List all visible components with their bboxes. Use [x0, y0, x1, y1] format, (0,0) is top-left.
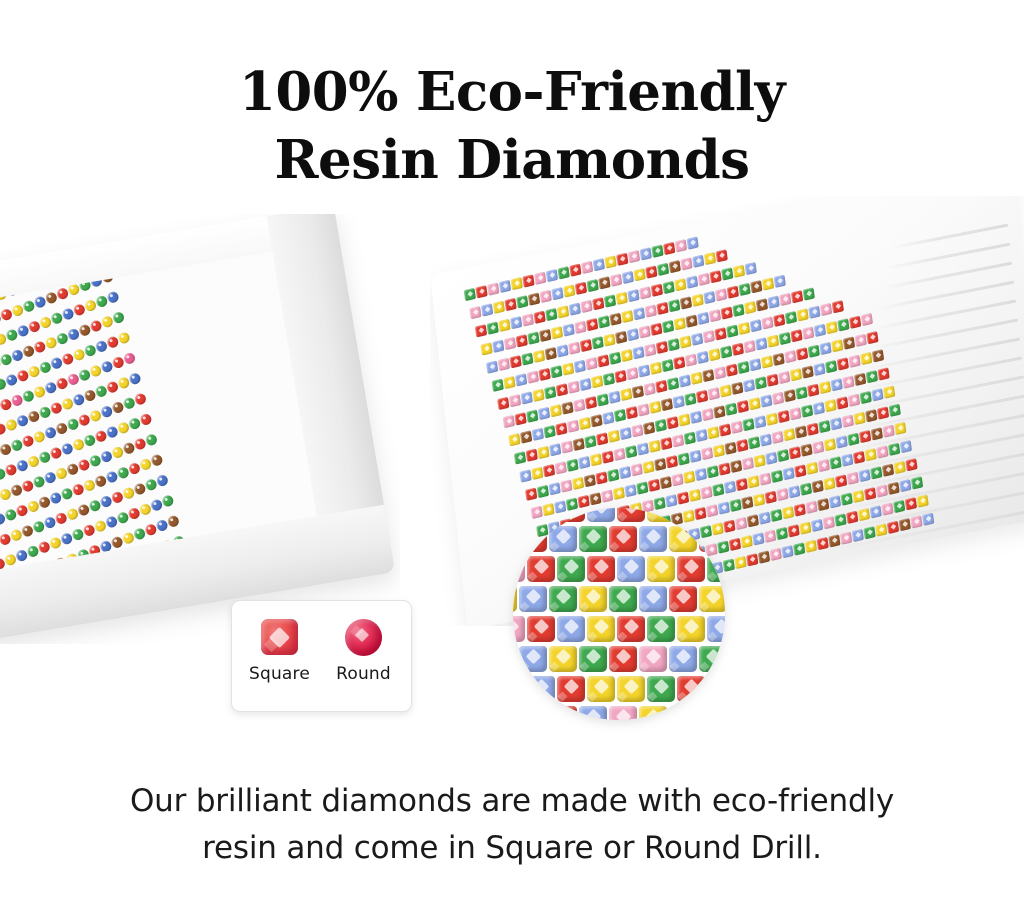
square-drill-bead — [793, 542, 805, 555]
square-drill-bead — [750, 280, 762, 293]
square-drill-bead — [732, 304, 744, 317]
square-drill-bead — [679, 374, 691, 387]
square-drill-bead — [511, 277, 523, 290]
square-drill-bead — [619, 466, 631, 479]
square-drill-bead — [574, 321, 586, 334]
square-drill-bead — [770, 548, 782, 561]
square-drill-bead — [557, 305, 569, 318]
square-drill-bead — [573, 438, 585, 451]
magnified-square-gem — [699, 706, 725, 720]
magnified-square-gem — [549, 706, 577, 720]
square-drill-bead — [818, 459, 830, 472]
square-drill-bead — [765, 491, 777, 504]
square-drill-bead — [697, 312, 709, 325]
square-drill-bead — [730, 460, 742, 473]
square-drill-bead — [860, 391, 872, 404]
square-drill-bead — [817, 537, 829, 550]
square-drill-bead — [520, 430, 532, 443]
square-drill-bead — [486, 360, 498, 373]
square-drill-bead — [855, 334, 867, 347]
square-drill-bead — [503, 415, 515, 428]
square-drill-bead — [593, 258, 605, 271]
round-drill-bead — [166, 514, 180, 528]
square-drill-bead — [795, 386, 807, 399]
square-drill-bead — [527, 331, 539, 344]
square-drill-bead — [796, 347, 808, 360]
square-drill-bead — [712, 483, 724, 496]
square-drill-bead — [779, 293, 791, 306]
magnified-square-gem — [587, 616, 615, 642]
magnified-gem-row — [513, 676, 725, 705]
square-drill-bead — [579, 417, 591, 430]
square-drill-bead — [776, 527, 788, 540]
square-drill-bead — [847, 472, 859, 485]
square-drill-bead — [842, 414, 854, 427]
square-drill-bead — [829, 495, 841, 508]
square-drill-bead — [723, 520, 735, 533]
magnified-square-gem — [707, 508, 725, 522]
square-drill-bead — [464, 288, 476, 301]
magnified-square-gem — [527, 556, 555, 582]
square-drill-bead — [522, 313, 534, 326]
square-drill-bead — [738, 283, 750, 296]
magnified-gem-row — [513, 646, 725, 675]
square-drill-bead — [567, 420, 579, 433]
magnified-square-gem — [587, 556, 615, 582]
magnified-square-gem — [647, 508, 675, 522]
square-drill-bead — [824, 438, 836, 451]
square-drill-bead — [709, 309, 721, 322]
square-drill-bead — [829, 456, 841, 469]
square-drill-bead — [777, 449, 789, 462]
square-drill-bead — [849, 316, 861, 329]
square-drill-bead — [746, 553, 758, 566]
square-drill-bead — [823, 516, 835, 529]
magnified-square-gem — [617, 508, 645, 522]
square-drill-bead — [883, 385, 895, 398]
square-drill-bead — [848, 355, 860, 368]
legend-items: Square Round — [232, 601, 411, 684]
magnified-square-gem — [639, 586, 667, 612]
square-drill-bead — [814, 324, 826, 337]
square-drill-bead — [911, 476, 923, 489]
square-drill-bead — [870, 466, 882, 479]
square-drill-bead — [738, 322, 750, 335]
square-drill-bead — [469, 306, 481, 319]
square-drill-bead — [860, 352, 872, 365]
square-drill-bead — [578, 495, 590, 508]
square-drill-bead — [684, 392, 696, 405]
square-drill-bead — [543, 425, 555, 438]
magnified-square-gem — [617, 556, 645, 582]
square-drill-bead — [802, 326, 814, 339]
square-drill-bead — [865, 448, 877, 461]
square-drill-bead — [870, 505, 882, 518]
round-gem-icon — [345, 619, 382, 656]
square-drill-bead — [532, 428, 544, 441]
magnified-square-gem — [707, 616, 725, 642]
square-drill-bead — [708, 387, 720, 400]
legend-item-square[interactable]: Square — [249, 615, 311, 684]
square-drill-bead — [831, 378, 843, 391]
square-drill-bead — [602, 450, 614, 463]
square-drill-bead — [698, 273, 710, 286]
square-drill-bead — [498, 319, 510, 332]
square-drill-bead — [703, 291, 715, 304]
square-drill-bead — [789, 407, 801, 420]
magnified-square-gem — [513, 586, 517, 612]
square-drill-bead — [882, 463, 894, 476]
magnified-square-gem — [519, 586, 547, 612]
square-drill-bead — [503, 376, 515, 389]
square-drill-bead — [627, 328, 639, 341]
square-drill-bead — [516, 295, 528, 308]
square-drill-bead — [737, 400, 749, 413]
square-drill-bead — [805, 540, 817, 553]
square-drill-bead — [627, 289, 639, 302]
square-drill-bead — [811, 519, 823, 532]
square-drill-bead — [640, 247, 652, 260]
square-drill-bead — [888, 443, 900, 456]
square-drill-bead — [590, 453, 602, 466]
square-drill-bead — [637, 442, 649, 455]
square-drill-bead — [840, 531, 852, 544]
square-drill-bead — [836, 435, 848, 448]
square-drill-bead — [725, 402, 737, 415]
square-drill-bead — [709, 270, 721, 283]
square-drill-bead — [660, 437, 672, 450]
square-drill-bead — [631, 463, 643, 476]
square-drill-bead — [538, 368, 550, 381]
square-drill-bead — [597, 354, 609, 367]
square-drill-bead — [700, 486, 712, 499]
square-drill-bead — [551, 326, 563, 339]
square-drill-bead — [632, 346, 644, 359]
square-drill-bead — [649, 401, 661, 414]
square-drill-bead — [779, 332, 791, 345]
magnified-square-gem — [639, 706, 667, 720]
square-drill-bead — [526, 448, 538, 461]
square-drill-bead — [760, 433, 772, 446]
square-drill-bead — [604, 294, 616, 307]
square-drill-bead — [680, 257, 692, 270]
square-drill-bead — [602, 411, 614, 424]
round-drill-bead — [5, 250, 19, 252]
square-drill-bead — [887, 521, 899, 534]
square-drill-bead — [742, 418, 754, 431]
square-drill-bead — [631, 424, 643, 437]
square-drill-bead — [803, 287, 815, 300]
square-drill-bead — [813, 363, 825, 376]
square-drill-bead — [545, 308, 557, 321]
square-drill-bead — [661, 398, 673, 411]
square-drill-bead — [546, 269, 558, 282]
square-drill-bead — [760, 394, 772, 407]
square-drill-bead — [669, 260, 681, 273]
square-drill-bead — [545, 347, 557, 360]
square-drill-bead — [789, 446, 801, 459]
square-drill-bead — [563, 284, 575, 297]
square-drill-bead — [580, 339, 592, 352]
square-drill-bead — [741, 535, 753, 548]
square-drill-bead — [707, 465, 719, 478]
square-drill-bead — [795, 425, 807, 438]
square-drill-bead — [755, 376, 767, 389]
square-drill-bead — [689, 450, 701, 463]
square-drill-bead — [756, 298, 768, 311]
magnified-square-gem — [609, 526, 637, 552]
square-drill-bead — [837, 357, 849, 370]
square-drill-bead — [544, 386, 556, 399]
square-drill-bead — [668, 338, 680, 351]
square-drill-bead — [480, 342, 492, 355]
square-drill-bead — [492, 379, 504, 392]
magnified-square-gem — [669, 526, 697, 552]
square-drill-bead — [628, 250, 640, 263]
square-drill-bead — [528, 292, 540, 305]
square-drill-bead — [866, 370, 878, 383]
magnified-square-gem — [639, 646, 667, 672]
square-drill-bead — [806, 462, 818, 475]
square-drill-bead — [585, 396, 597, 409]
square-drill-bead — [608, 391, 620, 404]
square-drill-bead — [894, 422, 906, 435]
square-drill-bead — [499, 280, 511, 293]
square-drill-bead — [625, 445, 637, 458]
page-title-line-2: Resin Diamonds — [0, 126, 1024, 194]
square-drill-bead — [761, 355, 773, 368]
square-drill-bead — [677, 452, 689, 465]
square-drill-bead — [819, 381, 831, 394]
square-drill-bead — [744, 301, 756, 314]
magnified-square-gem — [557, 616, 585, 642]
square-drill-bead — [826, 321, 838, 334]
square-drill-bead — [680, 296, 692, 309]
square-drill-bead — [603, 333, 615, 346]
square-drill-bead — [800, 443, 812, 456]
square-drill-bead — [663, 281, 675, 294]
square-drill-bead — [733, 265, 745, 278]
square-drill-bead — [604, 255, 616, 268]
square-drill-bead — [650, 323, 662, 336]
square-drill-bead — [569, 263, 581, 276]
square-drill-bead — [714, 327, 726, 340]
square-drill-bead — [922, 513, 934, 526]
square-drill-bead — [853, 412, 865, 425]
square-drill-bead — [750, 319, 762, 332]
square-drill-bead — [685, 314, 697, 327]
magnified-square-gem — [519, 646, 547, 672]
square-drill-bead — [726, 363, 738, 376]
magnified-square-gem — [513, 508, 525, 522]
square-drill-bead — [584, 474, 596, 487]
square-drill-bead — [724, 481, 736, 494]
square-drill-bead — [866, 331, 878, 344]
square-drill-bead — [537, 446, 549, 459]
square-drill-bead — [527, 370, 539, 383]
square-drill-bead — [770, 509, 782, 522]
square-drill-bead — [729, 538, 741, 551]
square-drill-bead — [877, 367, 889, 380]
square-drill-bead — [609, 352, 621, 365]
round-gem-wrap — [333, 615, 395, 659]
square-drill-bead — [776, 488, 788, 501]
drill-shape-legend-card: Square Round — [231, 600, 412, 712]
square-drill-bead — [624, 484, 636, 497]
magnifier-inset — [513, 508, 725, 720]
square-drill-bead — [802, 365, 814, 378]
square-drill-bead — [805, 501, 817, 514]
round-drill-bead — [0, 250, 8, 256]
square-drill-bead — [655, 380, 667, 393]
square-drill-bead — [533, 311, 545, 324]
square-drill-bead — [616, 253, 628, 266]
square-drill-bead — [701, 447, 713, 460]
square-drill-bead — [560, 479, 572, 492]
square-drill-bead — [702, 408, 714, 421]
square-drill-bead — [748, 436, 760, 449]
square-drill-bead — [633, 307, 645, 320]
square-drill-bead — [758, 511, 770, 524]
square-drill-bead — [573, 399, 585, 412]
square-drill-bead — [825, 360, 837, 373]
square-drill-bead — [621, 310, 633, 323]
square-drill-bead — [592, 297, 604, 310]
square-drill-bead — [749, 358, 761, 371]
square-drill-bead — [824, 399, 836, 412]
square-drill-bead — [650, 362, 662, 375]
magnified-square-gem — [587, 508, 615, 522]
square-drill-bead — [592, 336, 604, 349]
legend-item-round[interactable]: Round — [333, 615, 395, 684]
magnified-square-gem — [609, 586, 637, 612]
magnified-square-gem — [549, 586, 577, 612]
square-drill-bead — [585, 357, 597, 370]
square-drill-bead — [603, 372, 615, 385]
square-drill-bead — [755, 337, 767, 350]
square-drill-bead — [475, 285, 487, 298]
square-drill-bead — [736, 439, 748, 452]
square-drill-bead — [569, 302, 581, 315]
magnified-square-gem — [677, 556, 705, 582]
magnified-square-gem — [647, 616, 675, 642]
square-drill-bead — [662, 320, 674, 333]
square-drill-bead — [734, 556, 746, 569]
square-drill-bead — [916, 494, 928, 507]
square-drill-bead — [808, 306, 820, 319]
square-drill-bead — [785, 311, 797, 324]
square-drill-bead — [616, 292, 628, 305]
square-drill-bead — [601, 489, 613, 502]
square-drill-bead — [668, 299, 680, 312]
square-drill-bead — [655, 419, 667, 432]
square-drill-bead — [590, 414, 602, 427]
square-drill-bead — [620, 388, 632, 401]
square-drill-bead — [894, 461, 906, 474]
magnified-square-gem — [699, 586, 725, 612]
round-drill-bead — [133, 392, 147, 406]
square-drill-bead — [538, 407, 550, 420]
square-drill-bead — [615, 331, 627, 344]
magnified-square-gem — [647, 556, 675, 582]
square-drill-bead — [714, 366, 726, 379]
square-drill-bead — [765, 452, 777, 465]
square-drill-bead — [666, 455, 678, 468]
square-drill-bead — [575, 282, 587, 295]
square-drill-bead — [697, 351, 709, 364]
square-drill-bead — [556, 344, 568, 357]
square-drill-bead — [719, 384, 731, 397]
square-drill-bead — [842, 375, 854, 388]
square-drill-bead — [719, 423, 731, 436]
square-drill-bead — [684, 431, 696, 444]
square-drill-bead — [872, 349, 884, 362]
round-drill-bead — [161, 494, 175, 508]
square-drill-bead — [493, 301, 505, 314]
square-drill-bead — [817, 498, 829, 511]
square-drill-bead — [731, 382, 743, 395]
magnified-square-gem — [699, 526, 725, 552]
magnified-square-gem — [677, 616, 705, 642]
square-drill-bead — [774, 275, 786, 288]
square-drill-bead — [537, 485, 549, 498]
square-drill-bead — [521, 391, 533, 404]
square-drill-bead — [595, 471, 607, 484]
square-drill-bead — [696, 390, 708, 403]
magnified-square-gem — [527, 676, 555, 702]
square-drill-bead — [695, 429, 707, 442]
square-drill-bead — [910, 515, 922, 528]
square-drill-bead — [563, 323, 575, 336]
square-drill-bead — [807, 384, 819, 397]
magnified-square-gem — [513, 556, 525, 582]
magnified-square-gem — [527, 616, 555, 642]
square-drill-bead — [514, 451, 526, 464]
square-drill-bead — [610, 273, 622, 286]
square-drill-bead — [778, 371, 790, 384]
square-drill-bead — [551, 287, 563, 300]
square-gem-wrap — [249, 615, 311, 659]
square-drill-bead — [718, 462, 730, 475]
square-drill-bead — [644, 343, 656, 356]
round-drill-bead — [150, 453, 164, 467]
square-drill-bead — [791, 290, 803, 303]
round-drill-bead — [144, 433, 158, 447]
square-drill-bead — [831, 339, 843, 352]
square-drill-bead — [794, 464, 806, 477]
magnified-square-gem — [579, 706, 607, 720]
round-drill-bead — [106, 290, 120, 304]
square-drill-bead — [550, 365, 562, 378]
square-drill-bead — [525, 487, 537, 500]
magnified-square-gem — [579, 526, 607, 552]
square-drill-bead — [683, 470, 695, 483]
square-drill-bead — [632, 385, 644, 398]
magnified-square-gem — [617, 616, 645, 642]
magnified-square-gem — [647, 676, 675, 702]
square-drill-bead — [899, 479, 911, 492]
square-drill-bead — [519, 469, 531, 482]
square-drill-bead — [665, 494, 677, 507]
square-drill-bead — [566, 459, 578, 472]
square-drill-bead — [510, 316, 522, 329]
square-drill-bead — [784, 350, 796, 363]
square-drill-bead — [675, 239, 687, 252]
magnified-square-gem — [669, 646, 697, 672]
square-drill-bead — [852, 529, 864, 542]
magnified-gem-row — [513, 706, 725, 720]
square-drill-bead — [893, 500, 905, 513]
